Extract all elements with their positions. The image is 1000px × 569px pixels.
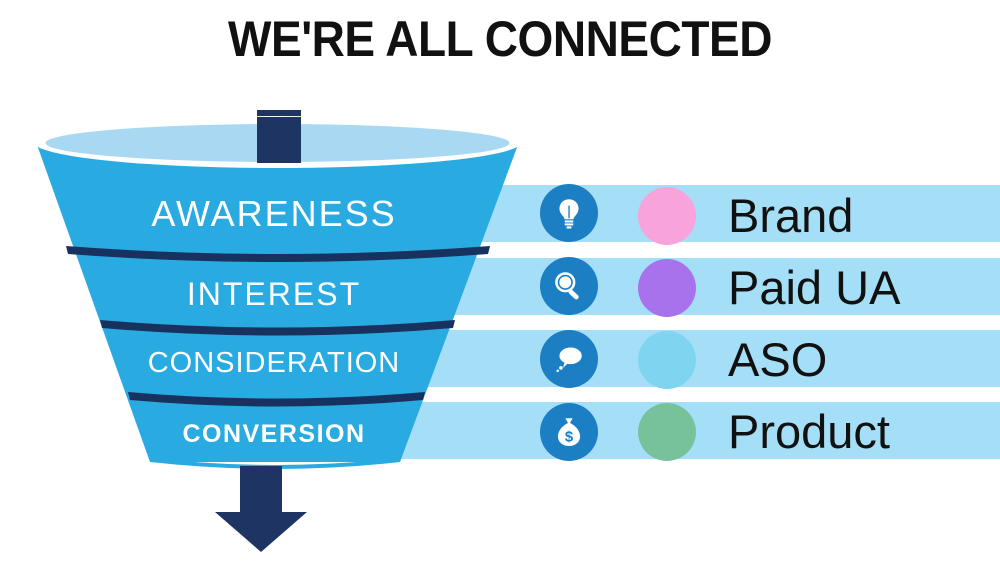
- legend-label-brand: Brand: [728, 190, 853, 242]
- money-bag-glyph: $: [552, 415, 586, 449]
- legend: Brand Paid UA ASO Product: [638, 180, 988, 468]
- legend-label-aso: ASO: [728, 334, 827, 386]
- legend-item-product[interactable]: Product: [638, 396, 988, 468]
- lightbulb-icon[interactable]: [540, 184, 598, 242]
- legend-label-product: Product: [728, 406, 890, 458]
- funnel-stage-label-consideration: CONSIDERATION: [0, 347, 548, 380]
- money-bag-icon[interactable]: $: [540, 403, 598, 461]
- legend-item-brand[interactable]: Brand: [638, 180, 988, 252]
- legend-swatch-brand: [638, 187, 696, 245]
- lightbulb-glyph: [552, 196, 586, 230]
- legend-item-aso[interactable]: ASO: [638, 324, 988, 396]
- funnel-stage-label-conversion: CONVERSION: [0, 420, 548, 449]
- legend-swatch-aso: [638, 331, 696, 389]
- legend-swatch-product: [638, 403, 696, 461]
- infographic-canvas: WE'RE ALL CONNECTED: [0, 0, 1000, 569]
- outflow-arrow: [215, 466, 307, 552]
- magnifier-glyph: [552, 269, 586, 303]
- legend-label-paid-ua: Paid UA: [728, 262, 900, 314]
- svg-text:$: $: [565, 430, 574, 446]
- speech-bubble-glyph: [552, 342, 586, 376]
- legend-item-paid-ua[interactable]: Paid UA: [638, 252, 988, 324]
- magnifier-icon[interactable]: [540, 257, 598, 315]
- legend-swatch-paid-ua: [638, 259, 696, 317]
- funnel-stage-label-interest: INTEREST: [0, 276, 548, 313]
- speech-bubble-icon[interactable]: [540, 330, 598, 388]
- funnel-stage-label-awareness: AWARENESS: [0, 193, 548, 235]
- inflow-arrow-overlap: [257, 117, 301, 163]
